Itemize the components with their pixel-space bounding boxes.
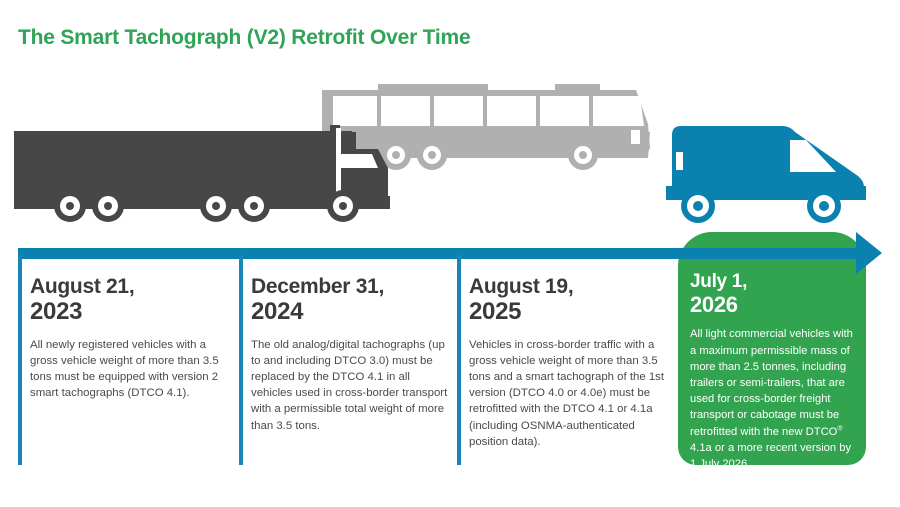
timeline-bar (18, 248, 873, 259)
milestone-year-2024: 2024 (251, 299, 449, 325)
milestone-date-2025: August 19, 2025 (469, 276, 669, 325)
milestone-day-2024: December 31, (251, 275, 384, 298)
milestone-2026: July 1, 2026 All light commercial vehicl… (690, 272, 858, 472)
milestone-date-2024: December 31, 2024 (251, 276, 449, 325)
timeline-tick-3 (457, 255, 461, 465)
registered-trademark-symbol: ® (837, 425, 842, 432)
milestone-date-2023: August 21, 2023 (30, 276, 230, 325)
milestone-year-2023: 2023 (30, 299, 230, 325)
milestone-text-2025: Vehicles in cross-border traffic with a … (469, 337, 669, 450)
milestone-date-2026: July 1, 2026 (690, 272, 858, 316)
milestone-day-2025: August 19, (469, 275, 573, 298)
milestone-text-2026-part1: All light commercial vehicles with a max… (690, 328, 853, 437)
milestone-year-2025: 2025 (469, 299, 669, 325)
milestone-text-2026: All light commercial vehicles with a max… (690, 326, 858, 472)
timeline-arrow-icon (856, 232, 882, 274)
timeline: August 21, 2023 All newly registered veh… (0, 0, 900, 507)
timeline-tick-1 (18, 255, 22, 465)
milestone-day-2023: August 21, (30, 275, 134, 298)
milestone-day-2026: July 1, (690, 271, 747, 292)
timeline-tick-2 (239, 255, 243, 465)
milestone-text-2024: The old analog/digital tachographs (up t… (251, 337, 449, 434)
milestone-2023: August 21, 2023 All newly registered veh… (30, 276, 230, 401)
milestone-text-2026-part2: 4.1a or a more recent version by 1 July … (690, 442, 851, 470)
infographic-root: The Smart Tachograph (V2) Retrofit Over … (0, 0, 900, 507)
milestone-year-2026: 2026 (690, 293, 858, 317)
milestone-text-2023: All newly registered vehicles with a gro… (30, 337, 230, 402)
milestone-2025: August 19, 2025 Vehicles in cross-border… (469, 276, 669, 450)
milestone-2024: December 31, 2024 The old analog/digital… (251, 276, 449, 434)
